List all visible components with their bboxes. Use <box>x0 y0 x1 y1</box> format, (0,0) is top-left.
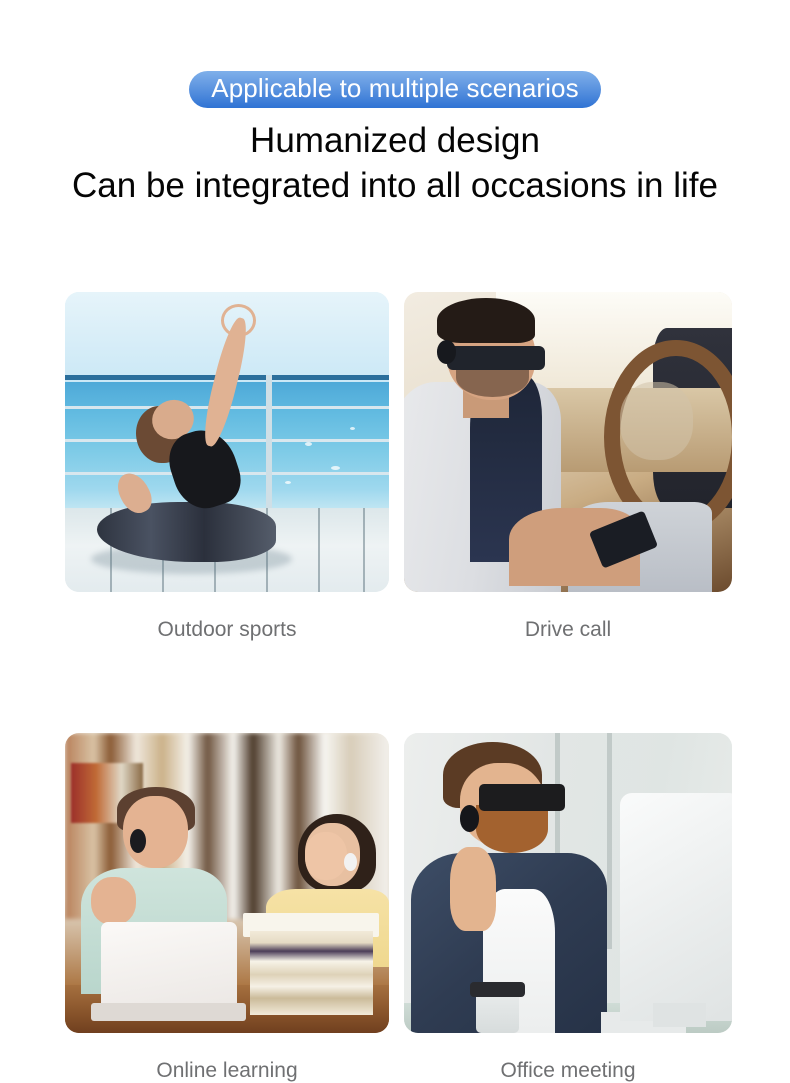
scenario-caption-online-learning: Online learning <box>65 1059 389 1083</box>
laptop-base <box>91 1003 247 1021</box>
badge-row: Applicable to multiple scenarios <box>0 0 790 108</box>
person-hand <box>450 847 496 931</box>
coffee-cup-icon <box>476 991 519 1033</box>
student-b-face <box>305 832 347 880</box>
coffee-cup-lid <box>470 982 526 997</box>
ear-hook-headset-icon <box>130 829 146 853</box>
monitor-icon <box>620 793 732 1021</box>
sunglasses-icon <box>447 346 545 370</box>
section-badge: Applicable to multiple scenarios <box>189 71 600 108</box>
scenario-caption-outdoor-sports: Outdoor sports <box>65 618 389 642</box>
headline-line-2: Can be integrated into all occasions in … <box>0 163 790 209</box>
office-meeting-photo <box>404 733 732 1033</box>
scenario-card-online-learning: Online learning <box>65 733 389 1083</box>
earbud-icon <box>344 853 357 871</box>
outdoor-sports-photo <box>65 292 389 592</box>
headline-line-1: Humanized design <box>0 118 790 163</box>
eyeglasses-icon <box>479 784 564 811</box>
scenario-caption-office-meeting: Office meeting <box>404 1059 732 1083</box>
online-learning-photo <box>65 733 389 1033</box>
monitor-stand <box>653 1003 705 1027</box>
railing-bar <box>65 439 389 442</box>
person-beard <box>476 805 548 853</box>
scenario-card-office-meeting: Office meeting <box>404 733 732 1083</box>
scenario-card-drive-call: Drive call <box>404 292 732 642</box>
steering-wheel-center <box>620 382 692 460</box>
scenario-row-1: Outdoor sports Drive call <box>65 292 732 642</box>
student-a-hand <box>91 877 136 925</box>
scenario-grid: Outdoor sports Drive call <box>65 292 732 1083</box>
water-sparkle-icon <box>305 442 312 446</box>
person-hair <box>437 298 535 343</box>
drive-call-photo <box>404 292 732 592</box>
water-sparkle-icon <box>331 466 340 470</box>
scenario-caption-drive-call: Drive call <box>404 618 732 642</box>
scenario-card-outdoor-sports: Outdoor sports <box>65 292 389 642</box>
page-header: Applicable to multiple scenarios Humaniz… <box>0 0 790 209</box>
laptop-icon <box>101 922 237 1012</box>
book-stack <box>250 931 373 1015</box>
scenario-row-2: Online learning <box>65 733 732 1083</box>
railing-post <box>266 375 272 510</box>
figure-hand <box>221 304 256 337</box>
